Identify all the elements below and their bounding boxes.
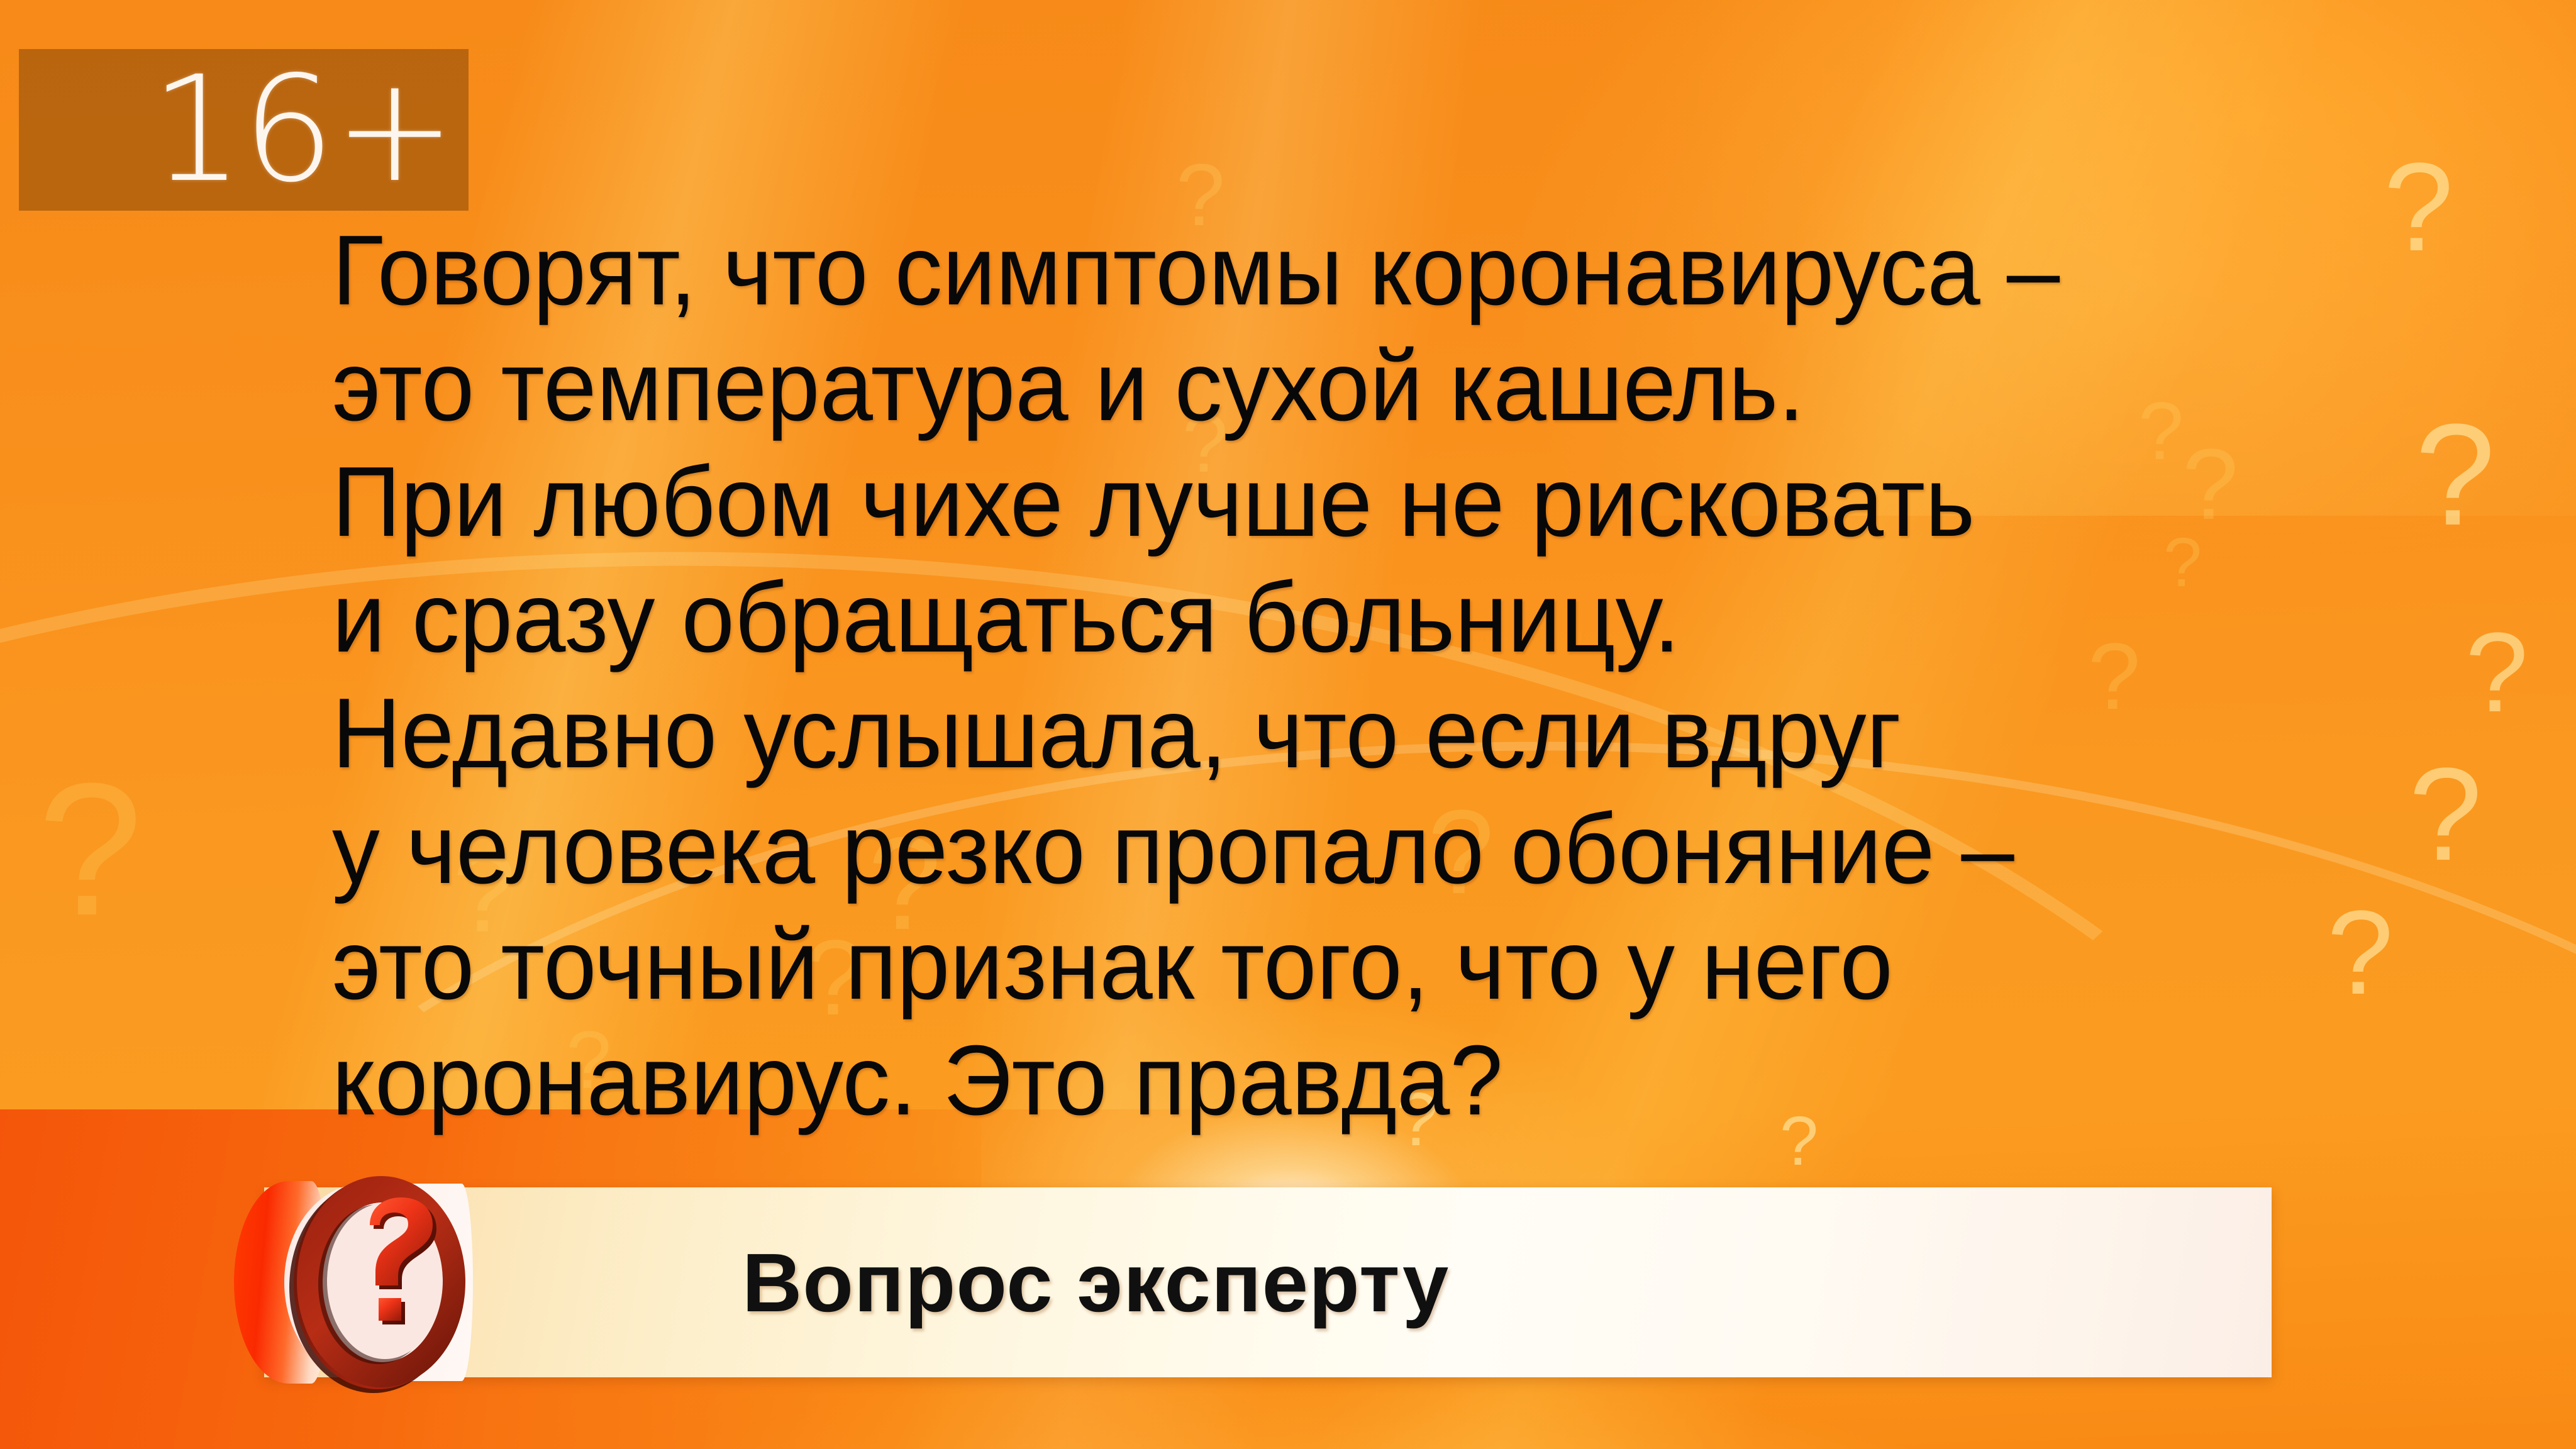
question-line: это точный признак того, что у него bbox=[332, 907, 2324, 1023]
question-line: и сразу обращаться больницу. bbox=[332, 560, 2324, 675]
question-line: При любом чихе лучше не рисковать bbox=[332, 444, 2324, 560]
question-mark-ring-logo bbox=[275, 1165, 479, 1400]
age-rating-label: 16+ bbox=[150, 67, 455, 193]
banner-title: Вопрос эксперту bbox=[742, 1187, 1449, 1377]
slide-canvas: ??????????????????? 16+ Говорят, что сим… bbox=[0, 0, 2576, 1449]
question-text-block: Говорят, что симптомы коронавируса –это … bbox=[332, 213, 2407, 1138]
question-line: у человека резко пропало обоняние – bbox=[332, 791, 2324, 907]
bottom-banner: Вопрос эксперту bbox=[264, 1187, 2272, 1377]
age-rating-badge: 16+ bbox=[19, 49, 469, 211]
question-line: это температура и сухой кашель. bbox=[332, 328, 2324, 444]
question-line: Недавно услышала, что если вдруг bbox=[332, 675, 2324, 791]
question-line: коронавирус. Это правда? bbox=[332, 1023, 2324, 1138]
question-line: Говорят, что симптомы коронавируса – bbox=[332, 213, 2324, 328]
